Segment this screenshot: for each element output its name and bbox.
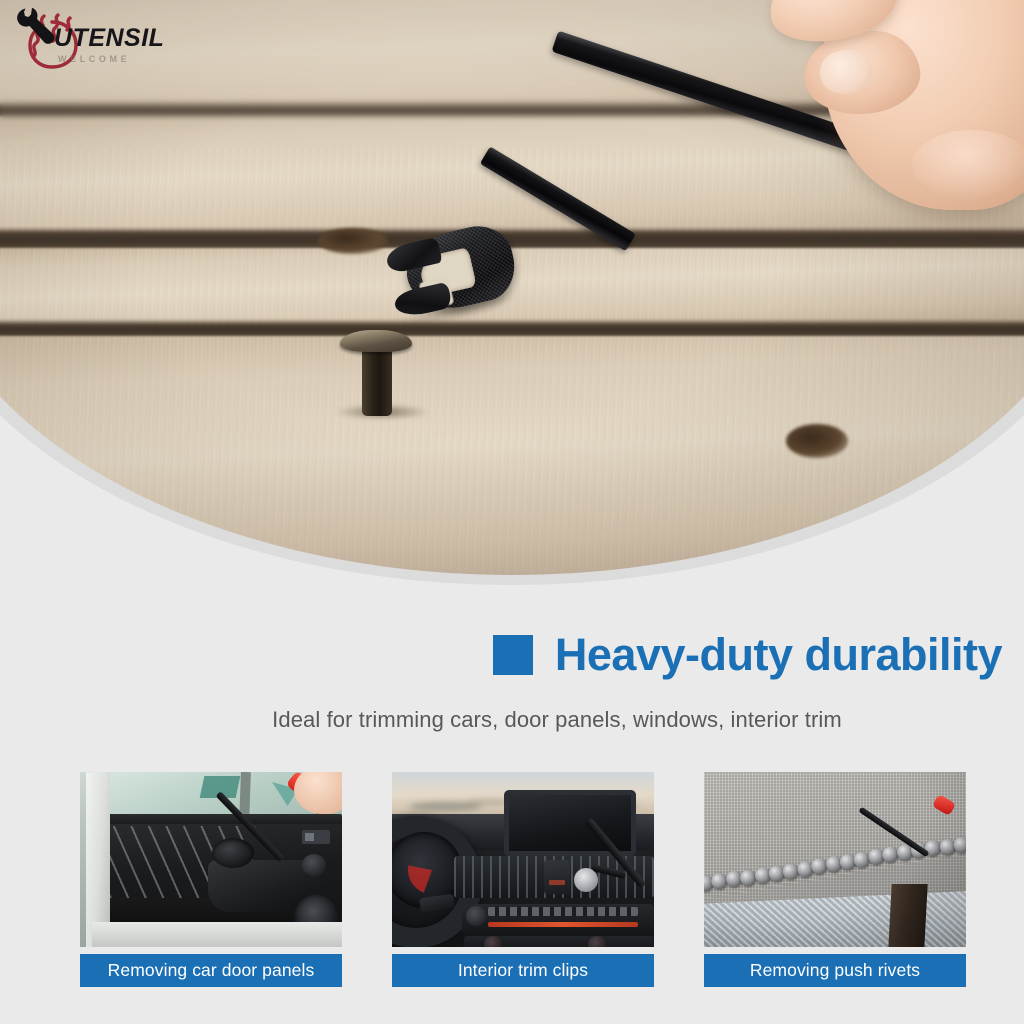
climate-knob xyxy=(588,936,606,947)
logo-tagline: WELCOME xyxy=(58,54,130,64)
nail-head xyxy=(340,330,412,352)
wrench-icon xyxy=(14,6,56,46)
radio-display-slot xyxy=(488,922,638,927)
door-sill xyxy=(86,772,110,947)
hero-photo-clip xyxy=(0,0,1024,575)
feature-headline-row: Heavy-duty durability xyxy=(0,632,1024,677)
card-caption: Removing car door panels xyxy=(80,954,342,987)
headline-bullet-square xyxy=(493,635,533,675)
nail xyxy=(340,330,412,418)
radio-button-row xyxy=(488,907,638,916)
vent-control xyxy=(544,860,570,894)
usage-card-door-panels: Removing car door panels xyxy=(80,772,342,987)
logo-wordmark: UTENSIL xyxy=(54,26,164,51)
radio-volume-knob xyxy=(466,906,486,926)
feature-subheadline: Ideal for trimming cars, door panels, wi… xyxy=(0,707,1024,733)
card-caption: Removing push rivets xyxy=(704,954,966,987)
hero-photo-content xyxy=(0,0,1024,575)
infotainment-screen xyxy=(504,790,636,856)
card-photo xyxy=(392,772,654,947)
door-bottom-sill xyxy=(92,922,342,947)
scene-vignette xyxy=(704,772,966,947)
usage-card-push-rivets: Removing push rivets xyxy=(704,772,966,987)
car-door-panel-scene xyxy=(80,772,342,947)
page-title: Heavy-duty durability xyxy=(555,632,1002,677)
door-switch xyxy=(302,830,330,844)
hero-image: UTENSIL WELCOME xyxy=(0,0,1024,600)
brand-logo: UTENSIL WELCOME xyxy=(6,4,146,76)
door-handle-recess xyxy=(212,838,254,868)
card-caption: Interior trim clips xyxy=(392,954,654,987)
knuckles xyxy=(912,130,1024,200)
upholstery-scene xyxy=(704,772,966,947)
tool-fork-head xyxy=(378,220,520,325)
climate-knob xyxy=(484,936,502,947)
window-knob xyxy=(302,854,326,876)
tachometer-redline xyxy=(408,846,456,894)
nail-shaft xyxy=(362,346,392,416)
card-photo xyxy=(704,772,966,947)
card-photo xyxy=(80,772,342,947)
hand xyxy=(762,0,1024,240)
usage-card-list: Removing car door panels xyxy=(80,772,966,987)
usage-card-interior-trim: Interior trim clips xyxy=(392,772,654,987)
dashboard-scene xyxy=(392,772,654,947)
